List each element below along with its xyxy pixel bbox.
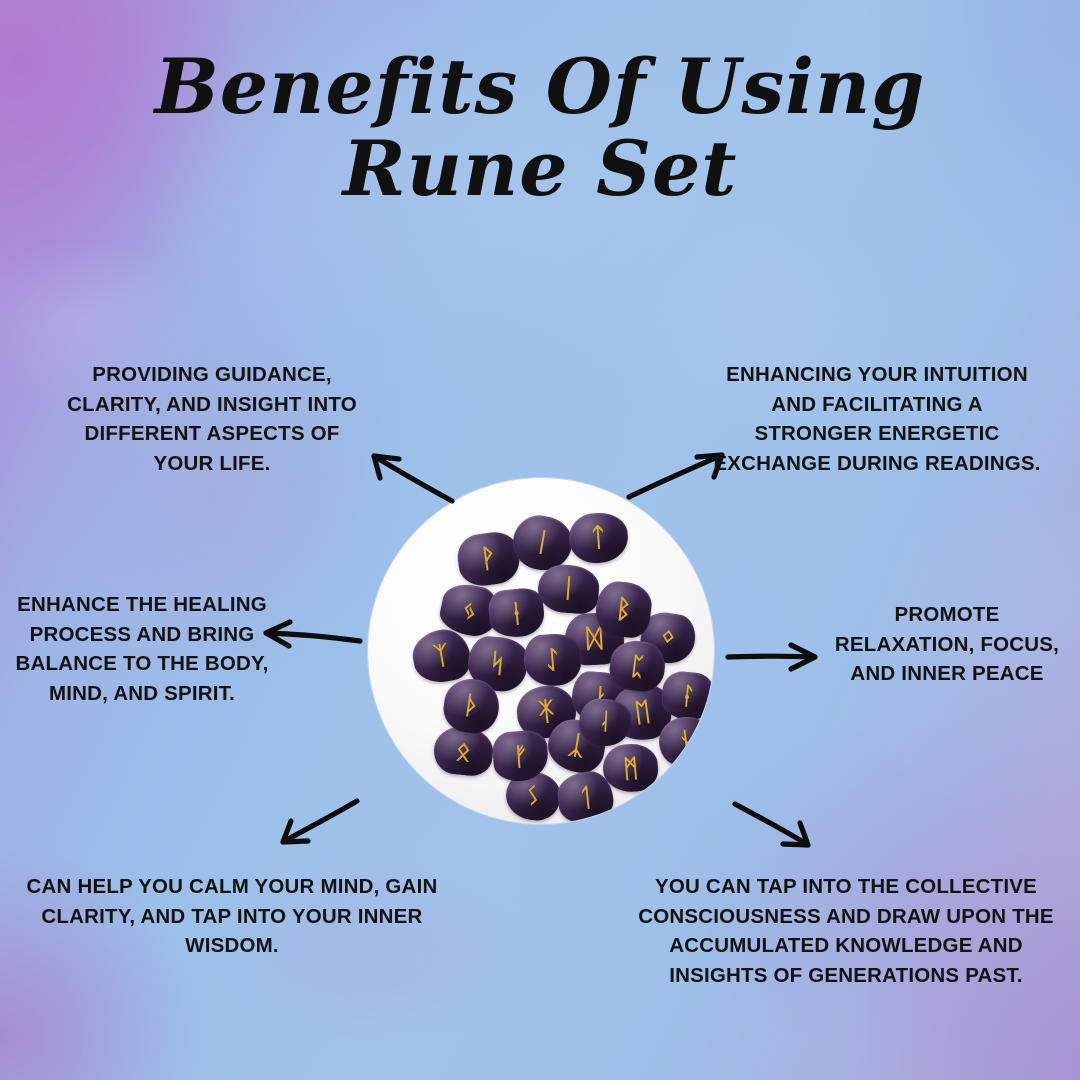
page-title: Benefits Of Using Rune Set <box>0 52 1080 204</box>
benefit-text-top-left: PROVIDING GUIDANCE, CLARITY, AND INSIGHT… <box>52 360 372 479</box>
arrow-down-right-icon <box>735 804 808 845</box>
benefit-text-bottom-left: CAN HELP YOU CALM YOUR MIND, GAIN CLARIT… <box>22 872 442 961</box>
arrow-left-icon <box>266 622 360 646</box>
arrow-up-left-icon <box>374 456 452 501</box>
arrow-right-icon <box>728 645 815 669</box>
benefit-text-mid-left: ENHANCE THE HEALING PROCESS AND BRING BA… <box>8 590 276 709</box>
title-line-2: Rune Set <box>0 134 1080 204</box>
title-line-1: Benefits Of Using <box>0 52 1080 122</box>
arrow-up-right-icon <box>629 455 722 497</box>
benefit-text-bottom-right: YOU CAN TAP INTO THE COLLECTIVE CONSCIOU… <box>626 872 1066 991</box>
benefit-text-mid-right: PROMOTE RELAXATION, FOCUS, AND INNER PEA… <box>828 600 1066 689</box>
benefit-text-top-right: ENHANCING YOUR INTUITION AND FACILITATIN… <box>712 360 1042 479</box>
infographic-poster: Benefits Of Using Rune Set <box>0 0 1080 1080</box>
arrow-down-left-icon <box>283 801 357 842</box>
